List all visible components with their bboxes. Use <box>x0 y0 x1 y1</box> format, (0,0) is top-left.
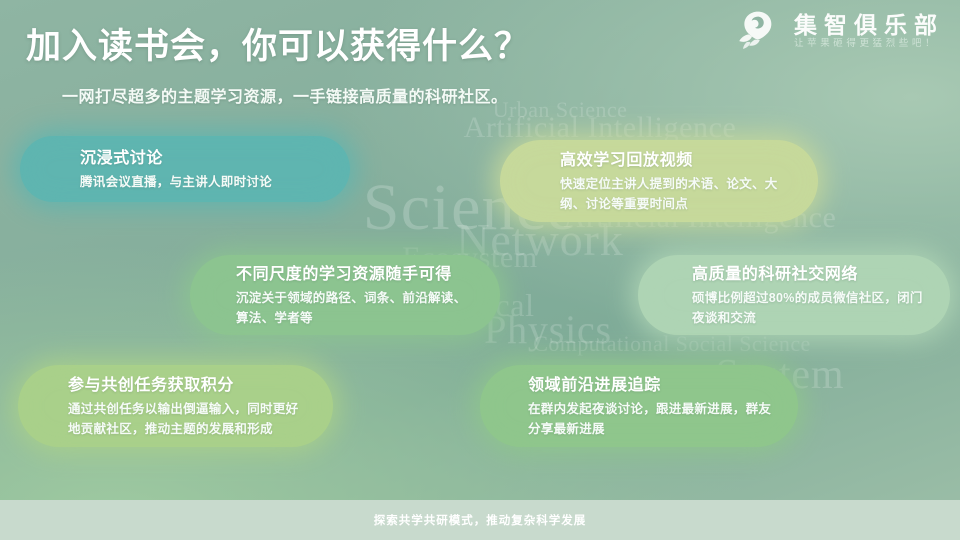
slide-footer: 探索共学共研模式，推动复杂科学发展 <box>0 500 960 540</box>
feature-card-title: 领域前沿进展追踪 <box>528 371 772 395</box>
feature-card-description: 在群内发起夜谈讨论，跟进最新进展，群友分享最新进展 <box>528 400 772 439</box>
feature-card-description: 硕博比例超过80%的成员微信社区，闭门夜谈和交流 <box>692 289 924 328</box>
feature-card-description: 腾讯会议直播，与主讲人即时讨论 <box>80 173 324 192</box>
feature-card-title: 不同尺度的学习资源随手可得 <box>236 260 474 284</box>
feature-card-description: 快速定位主讲人提到的术语、论文、大纲、讨论等重要时间点 <box>560 175 792 214</box>
presentation-slide: Urban ScienceArtificial IntelligenceScie… <box>0 0 960 540</box>
feature-card-research-network: 高质量的科研社交网络 硕博比例超过80%的成员微信社区，闭门夜谈和交流 <box>638 255 950 335</box>
feature-card-co-creation-points: 参与共创任务获取积分 通过共创任务以输出倒逼输入，同时更好地贡献社区，推动主题的… <box>18 365 333 447</box>
feature-card-description: 通过共创任务以输出倒逼输入，同时更好地贡献社区，推动主题的发展和形成 <box>68 400 307 439</box>
feature-card-title: 沉浸式讨论 <box>80 144 324 168</box>
feature-card-title: 参与共创任务获取积分 <box>68 371 307 395</box>
footer-text: 探索共学共研模式，推动复杂科学发展 <box>374 512 587 528</box>
feature-card-description: 沉淀关于领域的路径、词条、前沿解读、算法、学者等 <box>236 289 474 328</box>
feature-card-title: 高质量的科研社交网络 <box>692 260 924 284</box>
feature-card-learning-resources: 不同尺度的学习资源随手可得 沉淀关于领域的路径、词条、前沿解读、算法、学者等 <box>190 255 500 335</box>
feature-card-replay-video: 高效学习回放视频 快速定位主讲人提到的术语、论文、大纲、讨论等重要时间点 <box>500 140 818 222</box>
feature-card-group: 沉浸式讨论 腾讯会议直播，与主讲人即时讨论 高效学习回放视频 快速定位主讲人提到… <box>0 0 960 540</box>
feature-card-immersive-discussion: 沉浸式讨论 腾讯会议直播，与主讲人即时讨论 <box>20 136 350 202</box>
feature-card-title: 高效学习回放视频 <box>560 146 792 170</box>
feature-card-frontier-tracking: 领域前沿进展追踪 在群内发起夜谈讨论，跟进最新进展，群友分享最新进展 <box>480 365 798 447</box>
